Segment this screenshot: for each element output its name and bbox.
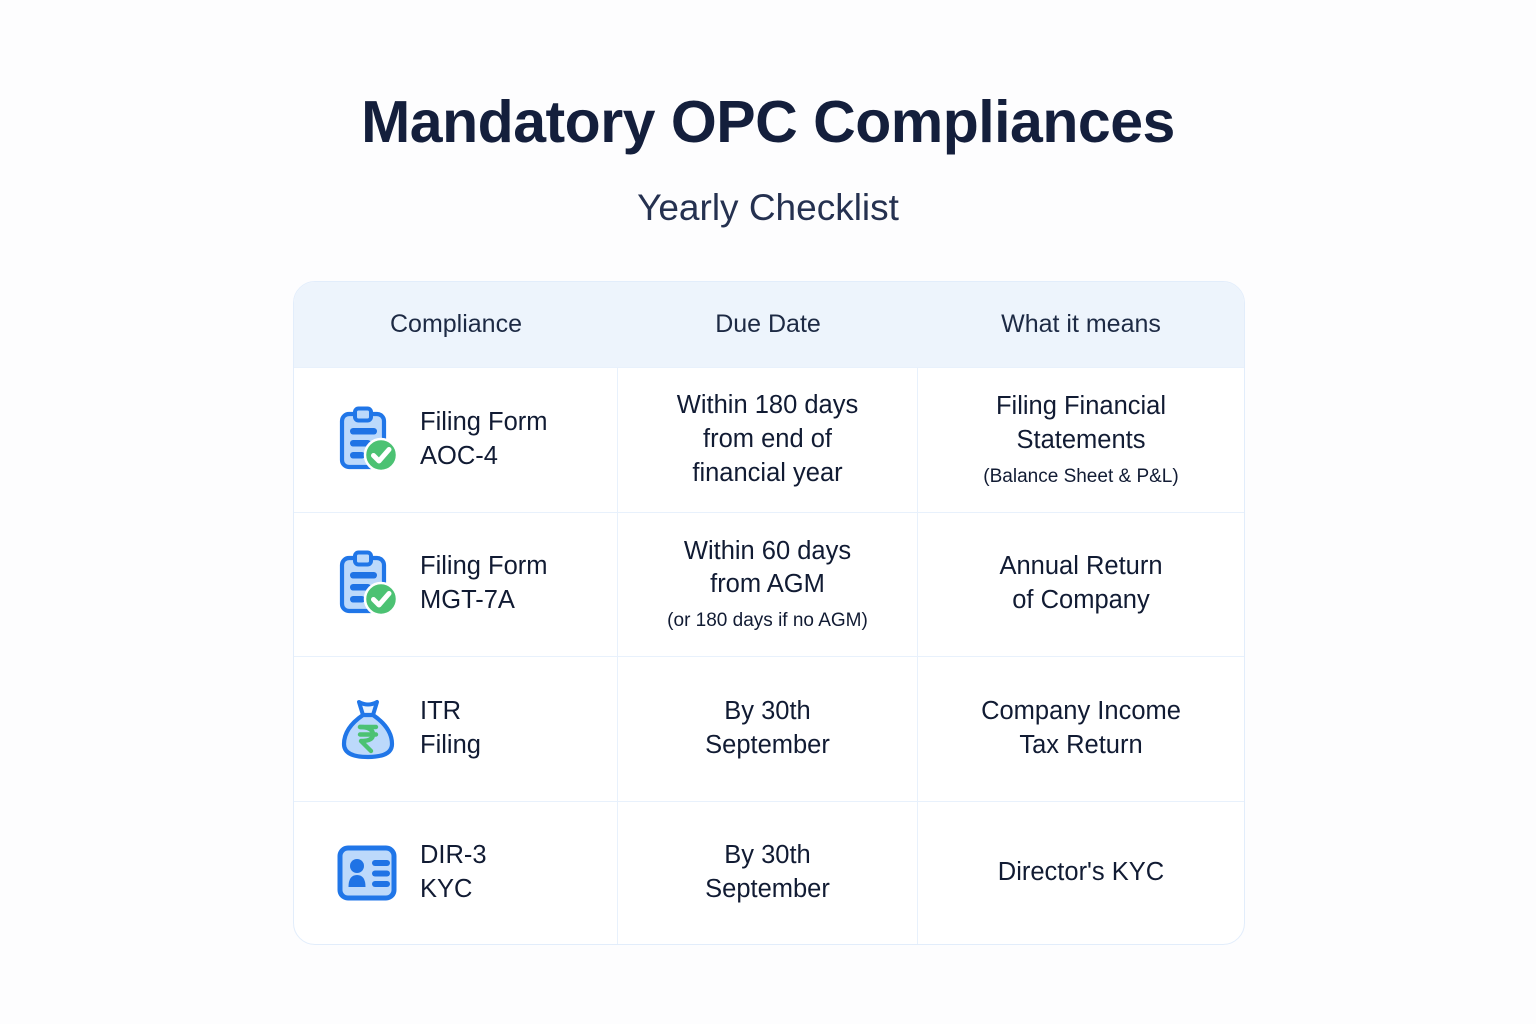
cell-compliance: ITR Filing <box>294 657 618 801</box>
due-date-text: By 30th September <box>705 695 830 763</box>
means-text: Company Income Tax Return <box>981 695 1181 763</box>
cell-due-date: Within 180 days from end of financial ye… <box>618 368 918 512</box>
table-header-row: Compliance Due Date What it means <box>294 282 1244 367</box>
compliance-label: ITR Filing <box>420 695 481 763</box>
means-text: Director's KYC <box>998 856 1164 890</box>
means-subtext: (Balance Sheet & P&L) <box>983 465 1178 490</box>
compliance-label: Filing Form AOC-4 <box>420 406 548 474</box>
clipboard-check-icon <box>334 404 402 476</box>
page-subtitle: Yearly Checklist <box>0 186 1536 230</box>
table-row: ITR Filing By 30th September Company Inc… <box>294 656 1244 801</box>
cell-compliance: DIR-3 KYC <box>294 802 618 946</box>
due-date-subtext: (or 180 days if no AGM) <box>667 609 868 634</box>
table-row: DIR-3 KYC By 30th September Director's K… <box>294 801 1244 946</box>
column-header-what-it-means: What it means <box>918 310 1244 339</box>
clipboard-check-icon <box>334 548 402 620</box>
id-card-icon <box>334 837 402 909</box>
cell-due-date: By 30th September <box>618 802 918 946</box>
due-date-text: Within 180 days from end of financial ye… <box>677 389 858 491</box>
column-header-due-date: Due Date <box>618 310 918 339</box>
page-title: Mandatory OPC Compliances <box>0 92 1536 154</box>
cell-compliance: Filing Form MGT-7A <box>294 513 618 657</box>
cell-due-date: By 30th September <box>618 657 918 801</box>
cell-what-it-means: Company Income Tax Return <box>918 657 1244 801</box>
compliance-table-card: Compliance Due Date What it means <box>293 281 1245 945</box>
money-bag-rupee-icon <box>334 693 402 765</box>
due-date-text: By 30th September <box>705 839 830 907</box>
compliance-label: DIR-3 KYC <box>420 839 487 907</box>
due-date-text: Within 60 days from AGM <box>684 535 851 603</box>
table-row: Filing Form AOC-4 Within 180 days from e… <box>294 367 1244 512</box>
cell-compliance: Filing Form AOC-4 <box>294 368 618 512</box>
compliance-label: Filing Form MGT-7A <box>420 550 548 618</box>
cell-due-date: Within 60 days from AGM (or 180 days if … <box>618 513 918 657</box>
cell-what-it-means: Annual Return of Company <box>918 513 1244 657</box>
cell-what-it-means: Director's KYC <box>918 802 1244 946</box>
column-header-compliance: Compliance <box>294 310 618 339</box>
cell-what-it-means: Filing Financial Statements (Balance She… <box>918 368 1244 512</box>
table-row: Filing Form MGT-7A Within 60 days from A… <box>294 512 1244 657</box>
infographic-page: Mandatory OPC Compliances Yearly Checkli… <box>0 0 1536 1024</box>
means-text: Filing Financial Statements <box>996 390 1166 458</box>
means-text: Annual Return of Company <box>999 550 1162 618</box>
